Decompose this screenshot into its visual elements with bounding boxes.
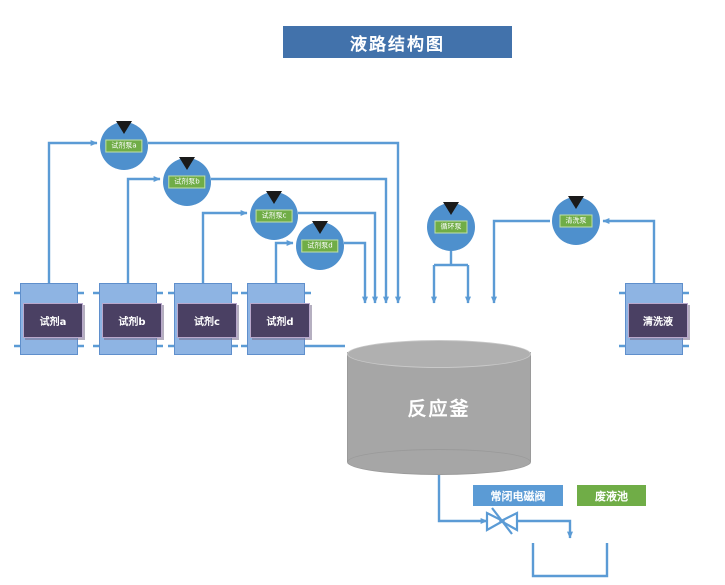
reactor-top-ellipse: [347, 340, 531, 368]
circulation-pump[interactable]: 循环泵: [427, 203, 475, 251]
diagram-canvas: 液路结构图 试剂泵a 试剂泵b 试剂泵c 试剂泵d 循环泵 清洗泵 试剂a 试剂…: [0, 0, 725, 585]
pump-cap-icon: [443, 202, 459, 215]
pump-cap-icon: [312, 221, 328, 234]
cleaning-pump[interactable]: 清洗泵: [552, 197, 600, 245]
reagent-pump-b[interactable]: 试剂泵b: [163, 158, 211, 206]
reagent-bottle-c-label: 试剂c: [177, 303, 237, 338]
pump-cap-icon: [266, 191, 282, 204]
solenoid-valve-symbol: [487, 508, 517, 534]
pipe-bottle-a-to-pump-a: [49, 143, 97, 300]
waste-pool-label: 废液池: [577, 485, 646, 506]
reagent-pump-b-label: 试剂泵b: [168, 176, 205, 189]
reagent-bottle-b[interactable]: 试剂b: [99, 283, 157, 355]
page-title: 液路结构图: [283, 26, 512, 58]
pump-cap-icon: [179, 157, 195, 170]
pump-cap-icon: [116, 121, 132, 134]
reactor-label: 反应釜: [347, 394, 531, 421]
reactor-bottom-ellipse: [347, 449, 531, 475]
cleaning-pump-label: 清洗泵: [560, 215, 593, 228]
pipe-cleaning-pump-to-reactor: [494, 221, 550, 303]
page-title-text: 液路结构图: [350, 30, 445, 55]
reagent-bottle-c[interactable]: 试剂c: [174, 283, 232, 355]
pipe-valve-to-waste: [516, 521, 570, 538]
reagent-pump-a[interactable]: 试剂泵a: [100, 122, 148, 170]
reagent-bottle-b-label: 试剂b: [102, 303, 162, 338]
cleaning-liquid-label: 清洗液: [628, 303, 688, 338]
solenoid-valve-label: 常闭电磁阀: [473, 485, 563, 506]
reagent-pump-c[interactable]: 试剂泵c: [250, 192, 298, 240]
reagent-pump-d-label: 试剂泵d: [301, 240, 338, 253]
reagent-bottle-d[interactable]: 试剂d: [247, 283, 305, 355]
cleaning-liquid-bottle[interactable]: 清洗液: [625, 283, 683, 355]
reagent-pump-a-label: 试剂泵a: [105, 140, 142, 153]
circulation-pump-label: 循环泵: [435, 221, 468, 234]
reagent-bottle-a-label: 试剂a: [23, 303, 83, 338]
reagent-pump-d[interactable]: 试剂泵d: [296, 222, 344, 270]
waste-pool-basin: [533, 543, 607, 576]
pipe-bottle-b-to-pump-b: [128, 179, 160, 300]
reagent-pump-c-label: 试剂泵c: [256, 210, 293, 223]
reagent-bottle-d-label: 试剂d: [250, 303, 310, 338]
pump-cap-icon: [568, 196, 584, 209]
reactor-vessel[interactable]: 反应釜: [347, 340, 531, 475]
reagent-bottle-a[interactable]: 试剂a: [20, 283, 78, 355]
pipe-pump-d-to-reactor: [344, 243, 365, 303]
